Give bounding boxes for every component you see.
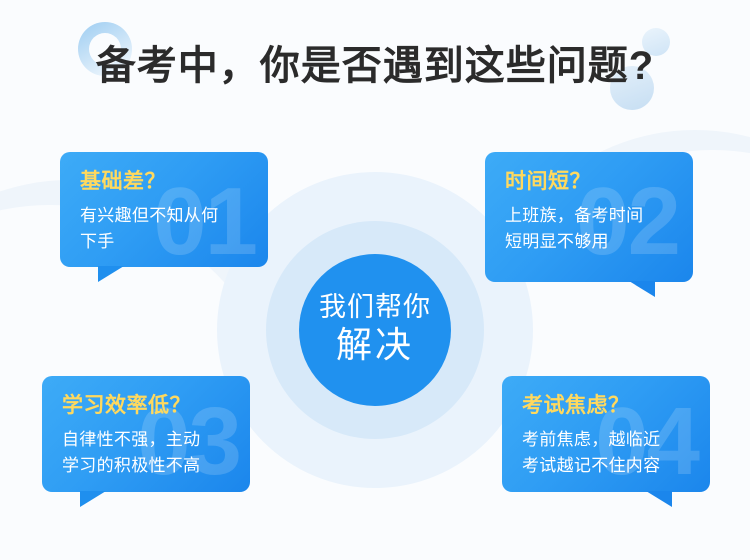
card-heading: 考试焦虑？ xyxy=(522,393,690,418)
card-heading: 基础差？ xyxy=(80,169,248,194)
center-core-circle: 我们帮你 解决 xyxy=(299,254,451,406)
center-text-line-2: 解决 xyxy=(336,325,414,366)
card-content: 基础差？ 有兴趣但不知从何 下手 xyxy=(60,152,268,271)
speech-bubble-tail xyxy=(629,281,655,297)
promo-poster: 备考中，你是否遇到这些问题? 我们帮你 解决 01 基础差？ 有兴趣但不知从何 … xyxy=(0,0,750,560)
card-body-text: 考前焦虑，越临近 考试越记不住内容 xyxy=(522,427,690,479)
problem-card-02: 02 时间短？ 上班族，备考时间 短明显不够用 xyxy=(485,152,693,282)
card-heading: 时间短？ xyxy=(505,169,673,194)
card-body-text: 上班族，备考时间 短明显不够用 xyxy=(505,203,673,255)
card-content: 时间短？ 上班族，备考时间 短明显不够用 xyxy=(485,152,693,271)
card-content: 学习效率低？ 自律性不强，主动 学习的积极性不高 xyxy=(42,376,250,495)
problem-card-04: 04 考试焦虑？ 考前焦虑，越临近 考试越记不住内容 xyxy=(502,376,710,492)
poster-header: 备考中，你是否遇到这些问题? xyxy=(0,0,750,130)
center-text-line-1: 我们帮你 xyxy=(319,293,431,323)
card-body-text: 有兴趣但不知从何 下手 xyxy=(80,203,248,255)
card-body-text: 自律性不强，主动 学习的积极性不高 xyxy=(62,427,230,479)
card-heading: 学习效率低？ xyxy=(62,393,230,418)
card-content: 考试焦虑？ 考前焦虑，越临近 考试越记不住内容 xyxy=(502,376,710,495)
problem-card-03: 03 学习效率低？ 自律性不强，主动 学习的积极性不高 xyxy=(42,376,250,492)
page-title: 备考中，你是否遇到这些问题? xyxy=(0,33,750,91)
problem-card-01: 01 基础差？ 有兴趣但不知从何 下手 xyxy=(60,152,268,267)
